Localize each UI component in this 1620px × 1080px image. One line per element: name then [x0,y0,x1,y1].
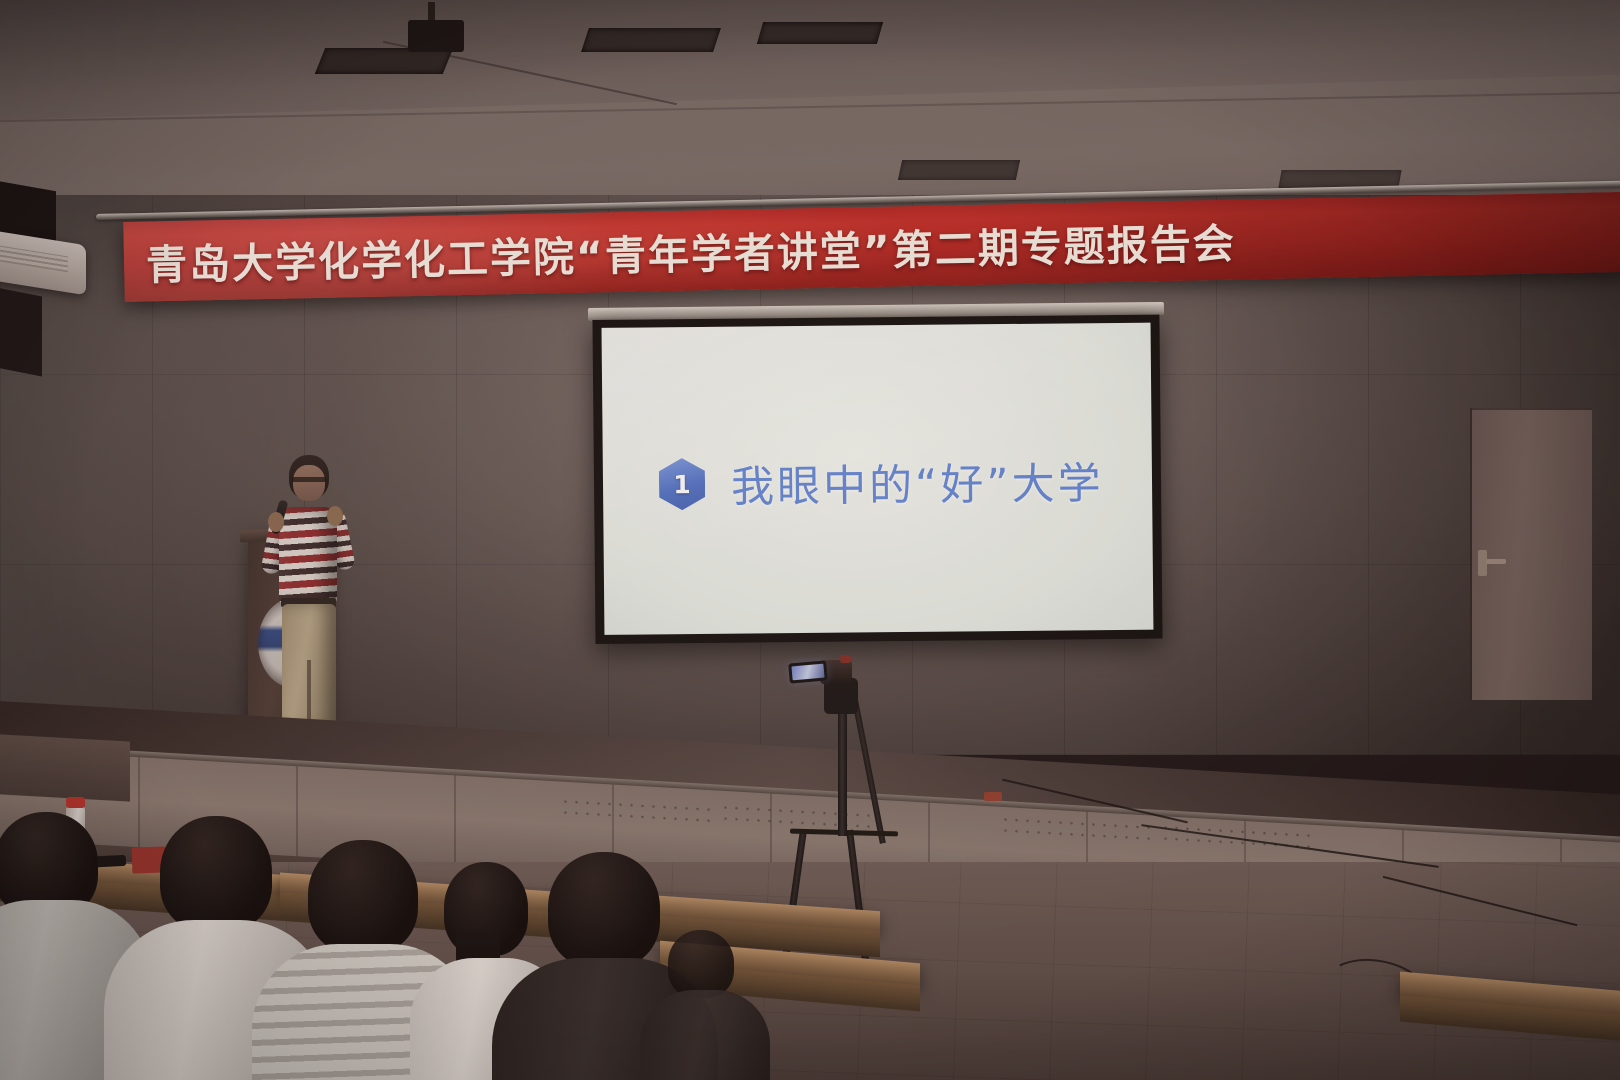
door-handle-icon[interactable] [1478,550,1487,576]
wall-dark-panel [0,288,42,377]
camera-monitor-screen [791,664,824,681]
ceiling-vent [898,160,1020,180]
speaker-leg-gap [307,660,311,728]
ceiling-vent [757,22,883,44]
camera-top-accent [840,655,851,663]
lecture-hall-scene: 青岛大学化学化工学院“青年学者讲堂”第二期专题报告会 1 我眼中的“好”大学 [0,0,1620,1080]
air-conditioner-grill [0,245,68,272]
slide-number-badge: 1 [659,458,705,510]
glasses-icon [292,477,326,482]
stage-steps [0,734,130,801]
audience-head [548,852,660,968]
audience-torso [640,990,770,1080]
tripod-column [838,700,847,836]
audience-head [160,816,272,932]
exit-door[interactable] [1470,408,1592,700]
ceiling-vent [581,28,721,52]
screen-surface: 1 我眼中的“好”大学 [602,323,1154,635]
slide-heading-row: 1 我眼中的“好”大学 [659,449,1104,515]
speaker-face [293,465,325,501]
power-adapter [984,792,1002,801]
audience-head [668,930,734,998]
bottle-cap [66,797,85,808]
camera-monitor-phone[interactable] [788,660,828,683]
projection-screen: 1 我眼中的“好”大学 [592,315,1162,644]
speaker-left-hand [268,512,284,532]
speaker-right-hand [327,506,343,526]
audience-head [308,840,418,954]
ceiling [0,0,1620,215]
ceiling-projector [408,20,464,52]
slide-title: 我眼中的“好”大学 [731,449,1104,515]
